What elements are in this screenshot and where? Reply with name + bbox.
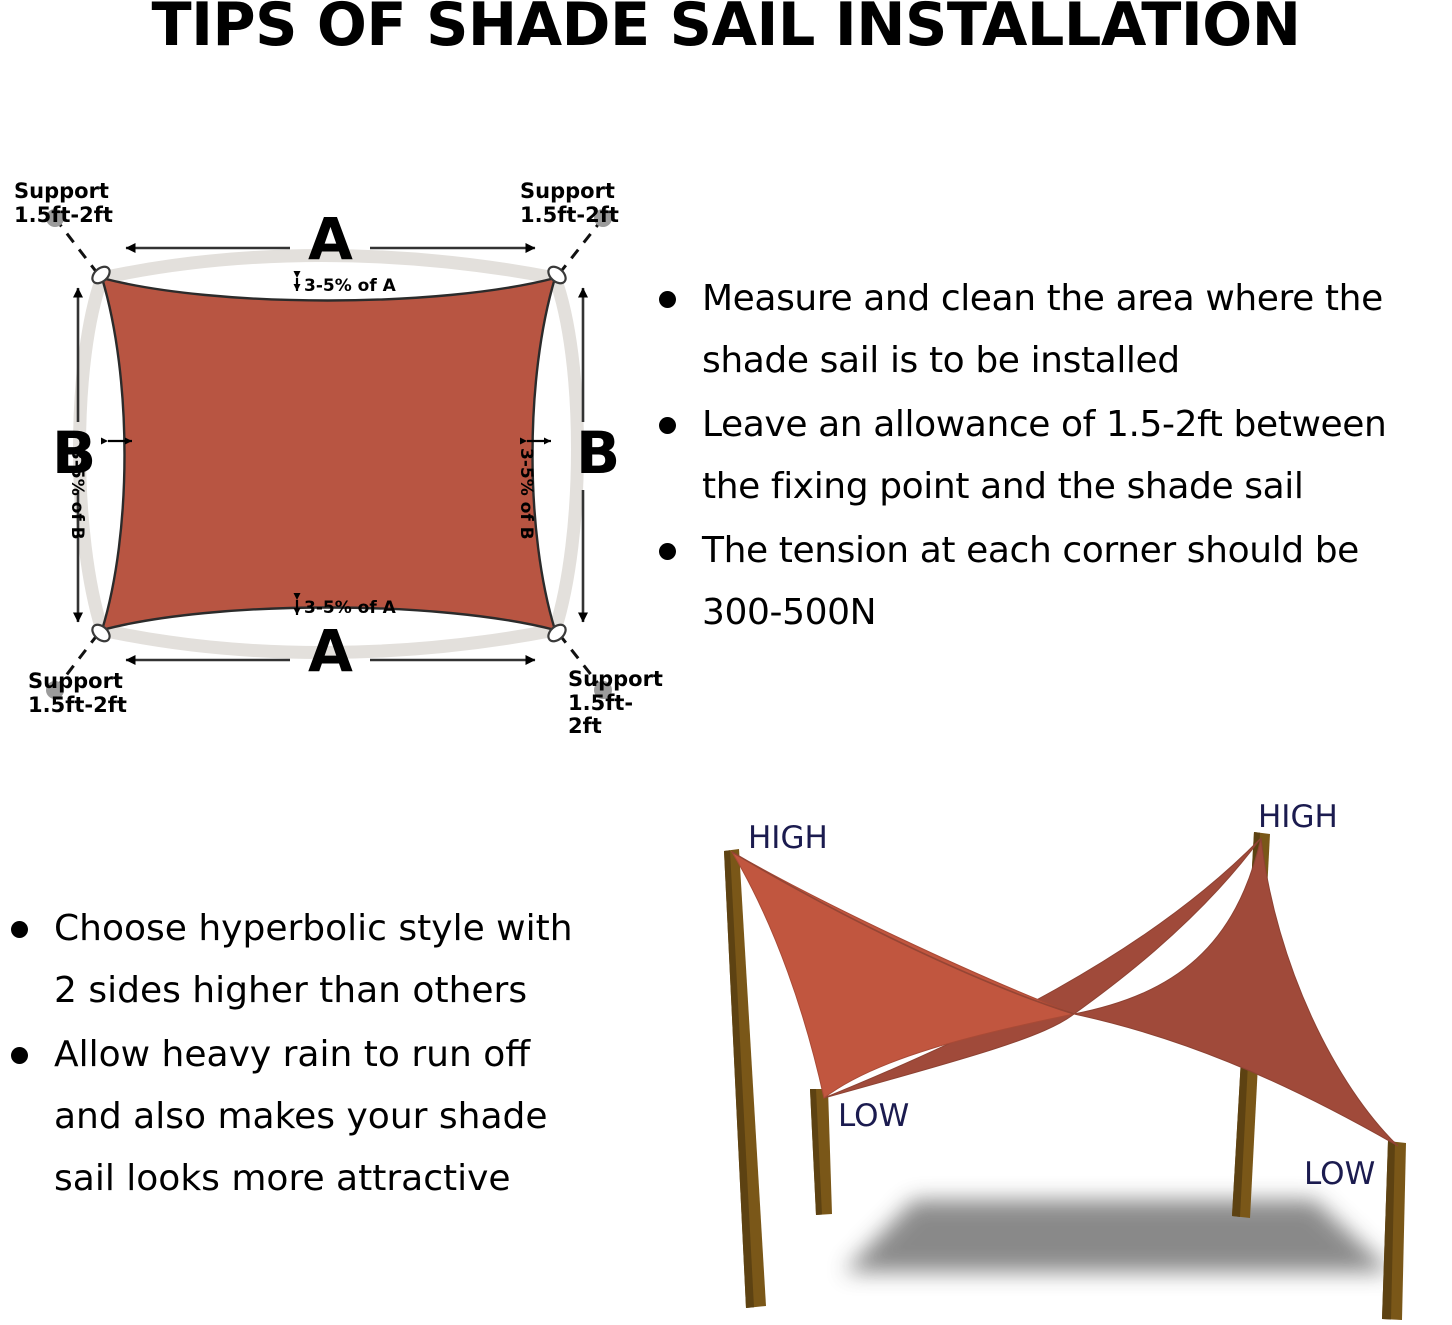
tip-line: 300-500N: [702, 582, 1452, 644]
list-item: The tension at each corner should be 300…: [648, 520, 1452, 644]
tip-line: and also makes your shade: [54, 1086, 640, 1148]
post-low-right: [1382, 1141, 1406, 1320]
support-label-line1: Support: [520, 179, 615, 203]
dimension-letter-height-right: B: [576, 424, 620, 482]
post-high-left: [724, 849, 766, 1308]
page-title: TIPS OF SHADE SAIL INSTALLATION: [15, 0, 1438, 57]
label-high-left: HIGH: [748, 820, 828, 856]
support-label-top-left: Support 1.5ft-2ft: [14, 180, 113, 227]
hyperbolic-scene-svg: [676, 786, 1452, 1325]
bullet-icon: [659, 543, 676, 560]
dimension-letter-width-top: A: [308, 210, 353, 268]
hyperbolic-tips-list: Choose hyperbolic style with 2 sides hig…: [0, 898, 640, 1212]
support-label-bottom-left: Support 1.5ft-2ft: [28, 670, 127, 717]
support-label-line1: Support: [14, 179, 109, 203]
support-label-bottom-right: Support 1.5ft-2ft: [568, 668, 663, 739]
label-high-right: HIGH: [1258, 799, 1338, 835]
tip-line: 2 sides higher than others: [54, 960, 640, 1022]
support-label-line2: 1.5ft-2ft: [568, 691, 633, 739]
curve-callout-left: 3-5% of B: [67, 448, 87, 540]
shade-sail-shape: [102, 278, 555, 630]
sail-panel-right: [1074, 838, 1398, 1146]
curve-callout-right: 3-5% of B: [516, 448, 536, 540]
label-low-left: LOW: [838, 1098, 909, 1134]
tip-line: Choose hyperbolic style with: [54, 898, 640, 960]
dimension-letter-width-bottom: A: [308, 622, 353, 680]
support-label-line1: Support: [568, 667, 663, 691]
list-item: Choose hyperbolic style with 2 sides hig…: [0, 898, 640, 1022]
tip-line: Leave an allowance of 1.5-2ft between: [702, 394, 1452, 456]
bullet-icon: [11, 921, 28, 938]
curve-callout-bottom: 3-5% of A: [304, 598, 396, 618]
installation-tips-list: Measure and clean the area where the sha…: [648, 268, 1452, 646]
support-label-line2: 1.5ft-2ft: [14, 203, 113, 227]
support-label-line2: 1.5ft-2ft: [520, 203, 619, 227]
hyperbolic-sail-scene: HIGH HIGH LOW LOW: [676, 786, 1452, 1325]
sail-panel-front: [732, 852, 1074, 1098]
list-item: Allow heavy rain to run off and also mak…: [0, 1024, 640, 1210]
tip-line: Allow heavy rain to run off: [54, 1024, 640, 1086]
bullet-icon: [659, 291, 676, 308]
tip-line: Measure and clean the area where the: [702, 268, 1452, 330]
tip-line: The tension at each corner should be: [702, 520, 1452, 582]
bullet-icon: [11, 1047, 28, 1064]
support-label-line2: 1.5ft-2ft: [28, 693, 127, 717]
tip-line: the fixing point and the shade sail: [702, 456, 1452, 518]
list-item: Leave an allowance of 1.5-2ft between th…: [648, 394, 1452, 518]
bullet-icon: [659, 417, 676, 434]
ground-shadow: [844, 1200, 1392, 1272]
curve-callout-top: 3-5% of A: [304, 276, 396, 296]
post-low-left: [810, 1089, 832, 1215]
tip-line: sail looks more attractive: [54, 1148, 640, 1210]
rectangular-sail-dimension-diagram: Support 1.5ft-2ft Support 1.5ft-2ft Supp…: [0, 160, 650, 730]
list-item: Measure and clean the area where the sha…: [648, 268, 1452, 392]
support-label-top-right: Support 1.5ft-2ft: [520, 180, 619, 227]
support-label-line1: Support: [28, 669, 123, 693]
label-low-right: LOW: [1304, 1156, 1375, 1192]
tip-line: shade sail is to be installed: [702, 330, 1452, 392]
